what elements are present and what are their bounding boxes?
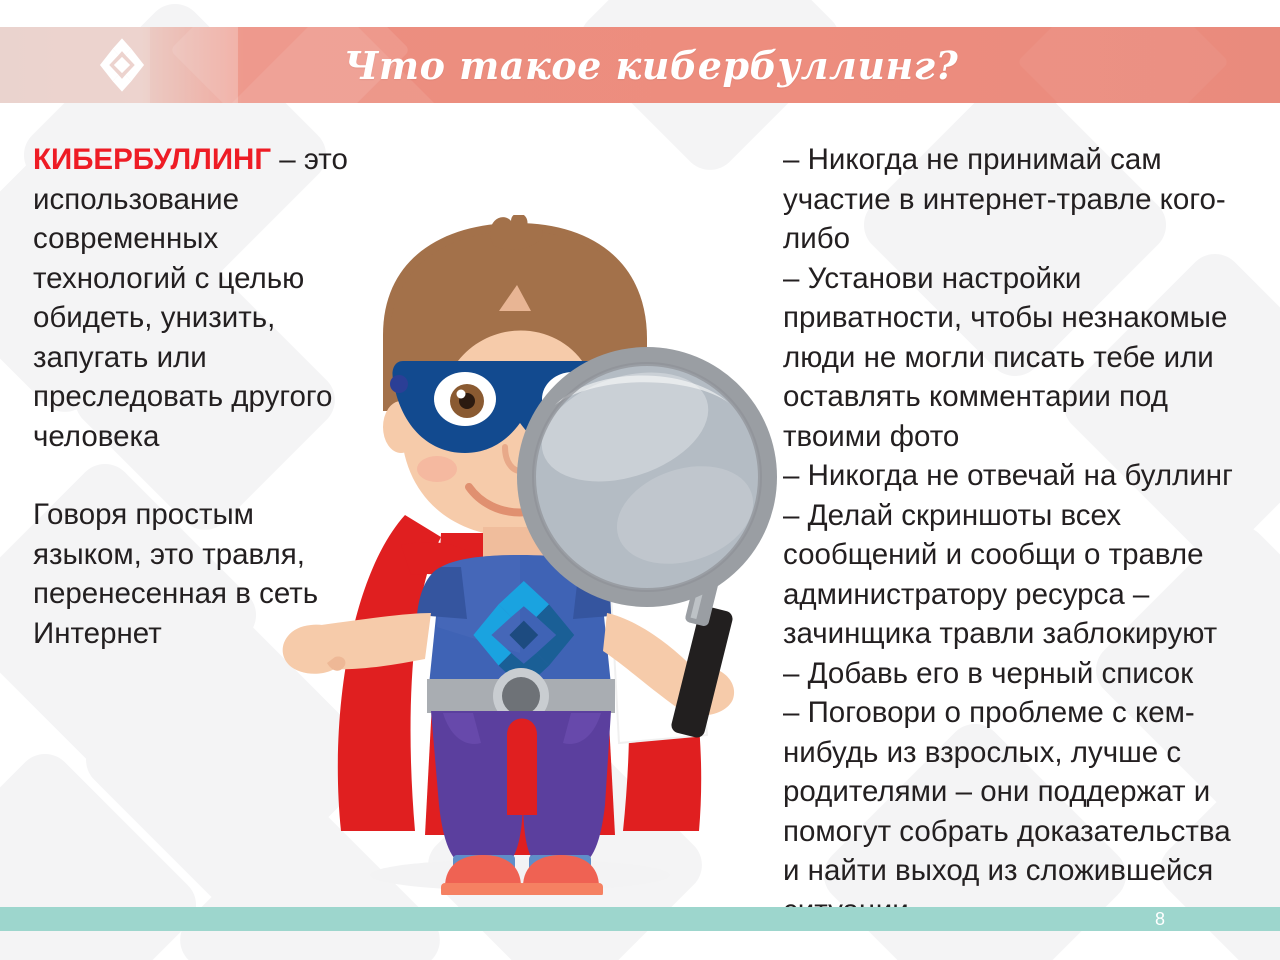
tip-item: – Никогда не принимай сам участие в инте…: [783, 140, 1253, 259]
mask-stud: [390, 375, 408, 393]
tip-item: – Никогда не отвечай на буллинг: [783, 456, 1253, 496]
boot-sole-left: [441, 883, 525, 895]
slide-canvas: Что такое кибербуллинг? КИБЕРБУЛЛИНГ – э…: [0, 0, 1280, 960]
cheek-left: [417, 456, 457, 482]
superhero-boy-illustration: [255, 215, 785, 895]
tip-item: – Делай скриншоты всех сообщений и сообщ…: [783, 496, 1253, 654]
tip-item: – Установи настройки приватности, чтобы …: [783, 259, 1253, 457]
right-text-column: – Никогда не принимай сам участие в инте…: [783, 140, 1253, 930]
footer-bar: [0, 907, 1280, 931]
belt-buckle-inner: [502, 677, 540, 715]
roskomnadzor-diamond-logo-icon: [93, 36, 151, 94]
page-title: Что такое кибербуллинг?: [0, 27, 1280, 103]
term-cyberbullying: КИБЕРБУЛЛИНГ: [33, 143, 271, 176]
tip-item: – Поговори о проблеме с кем-нибудь из вз…: [783, 693, 1253, 930]
page-number: 8: [1140, 907, 1180, 931]
tip-item: – Добавь его в черный список: [783, 654, 1253, 694]
boot-sole-right: [519, 883, 603, 895]
